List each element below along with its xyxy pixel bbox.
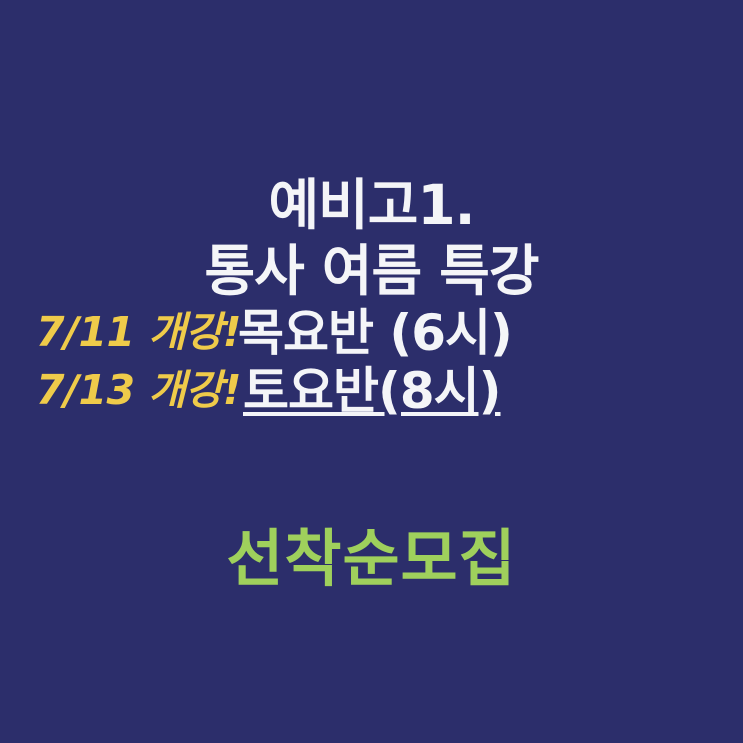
schedule-row-thursday: 7/11 개강! 목요반 (6시): [0, 308, 743, 360]
schedule-class-thursday: 목요반 (6시): [238, 308, 512, 358]
promo-poster: 예비고1. 통사 여름 특강 7/11 개강! 목요반 (6시) 7/13 개강…: [0, 0, 743, 743]
headline-line-1: 예비고1.: [0, 178, 743, 233]
schedule-date-thursday: 7/11 개강!: [36, 312, 241, 353]
schedule-class-saturday: 토요반(8시): [243, 366, 501, 416]
callout-text: 선착순모집: [0, 528, 743, 590]
headline-block: 예비고1. 통사 여름 특강 7/11 개강! 목요반 (6시) 7/13 개강…: [0, 178, 743, 418]
schedule-date-saturday: 7/13 개강!: [36, 370, 241, 411]
schedule-row-saturday: 7/13 개강! 토요반(8시): [0, 366, 743, 418]
headline-line-2: 통사 여름 특강: [0, 244, 743, 299]
